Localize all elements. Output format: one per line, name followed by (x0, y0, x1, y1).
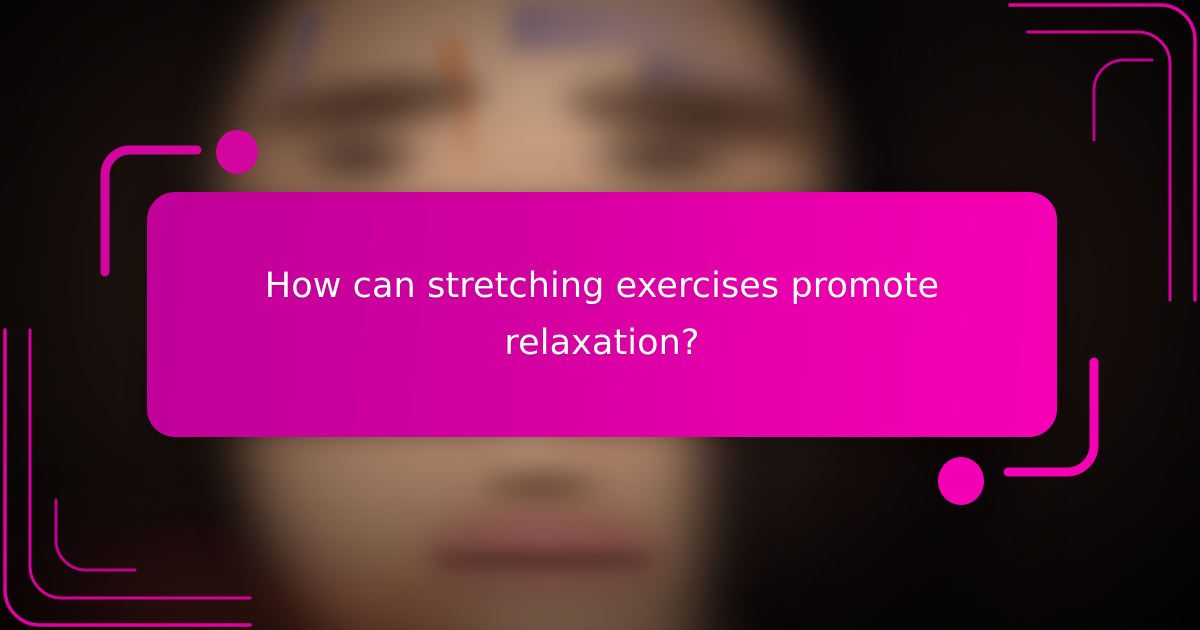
accent-dot-bottom-right (938, 457, 984, 505)
quote-card-canvas: How can stretching exercises promote rel… (0, 0, 1200, 630)
question-text: How can stretching exercises promote rel… (147, 258, 1057, 371)
question-card: How can stretching exercises promote rel… (147, 192, 1057, 437)
accent-dot-top-left (216, 130, 258, 174)
